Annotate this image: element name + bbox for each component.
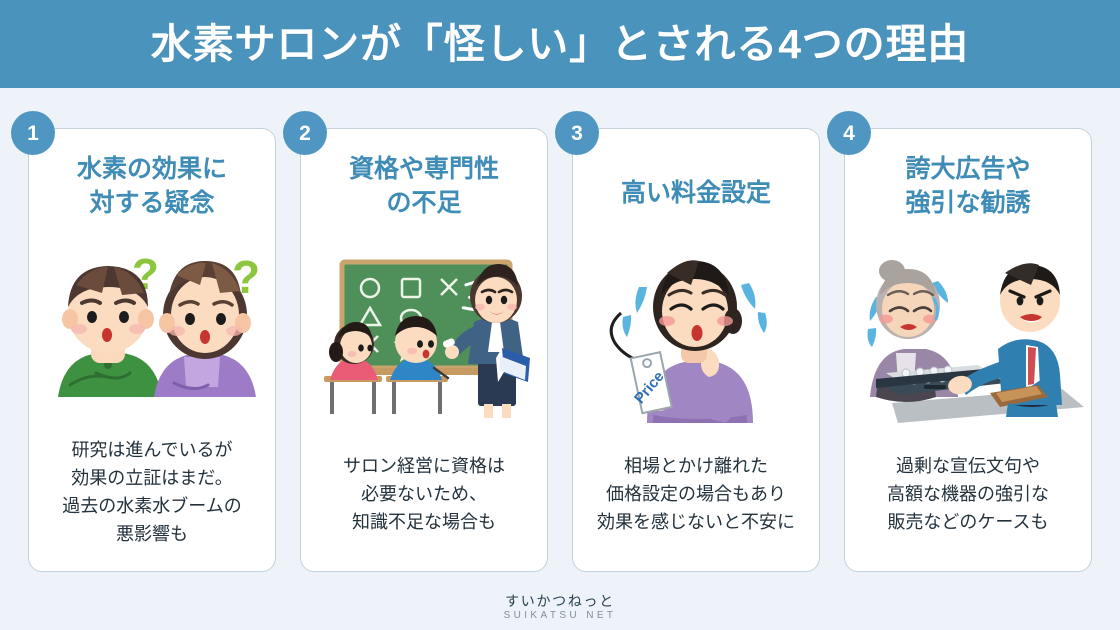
card-title-2: 資格や専門性 の不足 [339,151,509,223]
illustration-classroom-lesson [301,223,547,453]
card-title-1: 水素の効果に 対する疑念 [67,151,237,223]
page-title: 水素サロンが「怪しい」とされる4つの理由 [151,24,969,65]
card-title-4: 誇大広告や 強引な勧誘 [895,151,1040,223]
infographic-poster: 水素サロンが「怪しい」とされる4つの理由 1 水素の効果に 対する疑念 ? ? [0,0,1120,630]
card-badge-3: 3 [555,111,599,155]
card-grid: 1 水素の効果に 対する疑念 ? ? [28,128,1092,572]
card-body-1: 研究は進んでいるが 効果の立証はまだ。 過去の水素水ブームの 悪影響も [54,437,249,571]
card-body-3: 相場とかけ離れた 価格設定の場合もあり 効果を感じないと不安に [589,453,803,571]
illustration-two-confused-people: ? ? [29,223,275,437]
reason-card-2: 2 資格や専門性 の不足 [300,128,548,572]
footer-logo-jp: すいかつねっと [0,594,1120,609]
reason-card-4: 4 誇大広告や 強引な勧誘 [844,128,1092,572]
card-body-2: サロン経営に資格は 必要ないため、 知識不足な場合も [335,453,513,571]
card-badge-4: 4 [827,111,871,155]
illustration-pushy-salesman [845,223,1091,453]
card-badge-2: 2 [283,111,327,155]
reason-card-1: 1 水素の効果に 対する疑念 ? ? [28,128,276,572]
card-body-4: 過剰な宣伝文句や 高額な機器の強引な 販売などのケースも [879,453,1057,571]
footer-logo-en: SUIKATSU NET [0,610,1120,622]
reason-card-3: 3 高い料金設定 [572,128,820,572]
card-title-3: 高い料金設定 [611,165,781,223]
card-badge-1: 1 [11,111,55,155]
illustration-price-shock-woman: Price [573,223,819,453]
header-band: 水素サロンが「怪しい」とされる4つの理由 [0,0,1120,88]
footer-logo: すいかつねっと SUIKATSU NET [0,594,1120,622]
